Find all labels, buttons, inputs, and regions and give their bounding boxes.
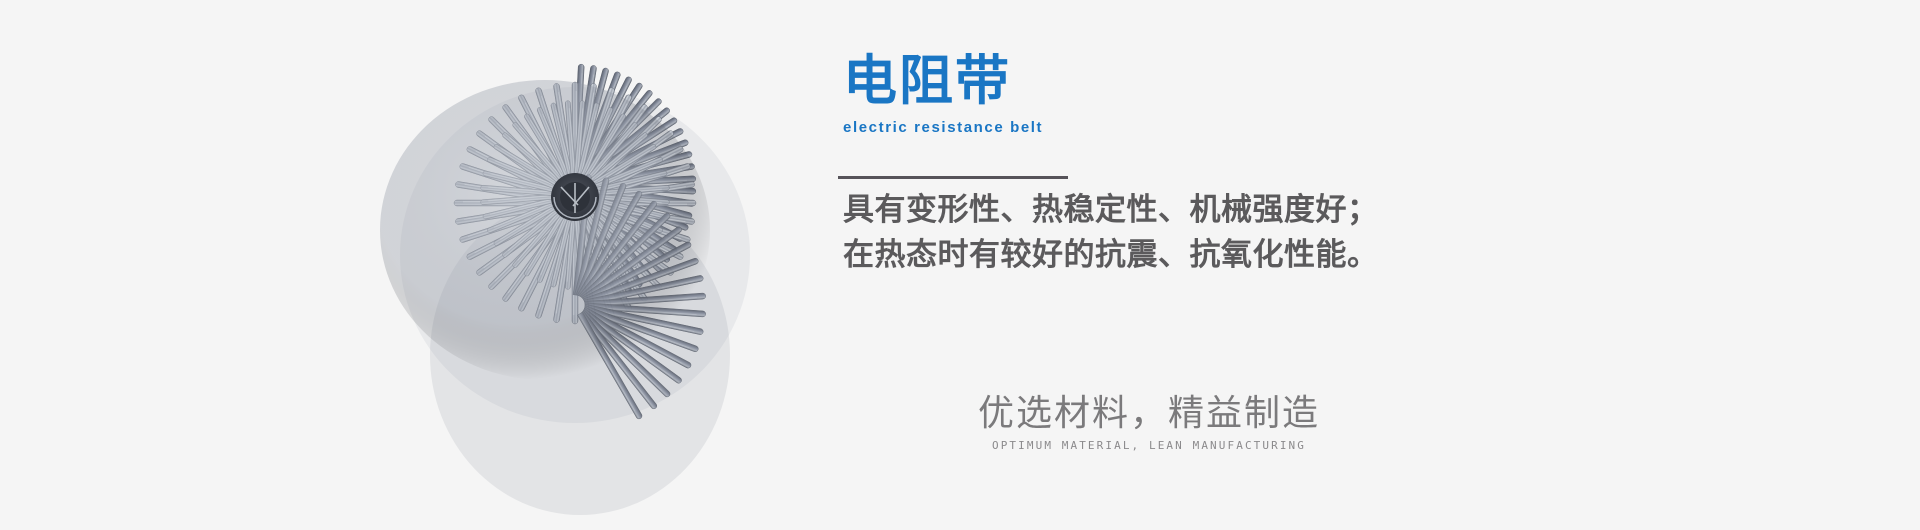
description-line-1: 具有变形性、热稳定性、机械强度好； bbox=[843, 188, 1379, 233]
tagline-block: 优选材料，精益制造 OPTIMUM MATERIAL, LEAN MANUFAC… bbox=[939, 392, 1359, 453]
title-divider bbox=[838, 176, 1068, 179]
tagline-english: OPTIMUM MATERIAL, LEAN MANUFACTURING bbox=[939, 439, 1359, 453]
tagline-chinese: 优选材料，精益制造 bbox=[939, 392, 1359, 436]
page-title: 电阻带 bbox=[843, 52, 1043, 110]
product-description: 具有变形性、热稳定性、机械强度好； 在热态时有较好的抗震、抗氧化性能。 bbox=[843, 188, 1379, 278]
copy-column: 电阻带 electric resistance belt 具有变形性、热稳定性、… bbox=[843, 0, 1843, 530]
page-subtitle: electric resistance belt bbox=[843, 119, 1043, 136]
description-line-2: 在热态时有较好的抗震、抗氧化性能。 bbox=[843, 233, 1379, 278]
title-block: 电阻带 electric resistance belt bbox=[843, 52, 1043, 136]
product-image bbox=[330, 55, 830, 530]
product-banner: 电阻带 electric resistance belt 具有变形性、热稳定性、… bbox=[0, 0, 1920, 530]
resistance-belt-illustration bbox=[330, 55, 830, 530]
